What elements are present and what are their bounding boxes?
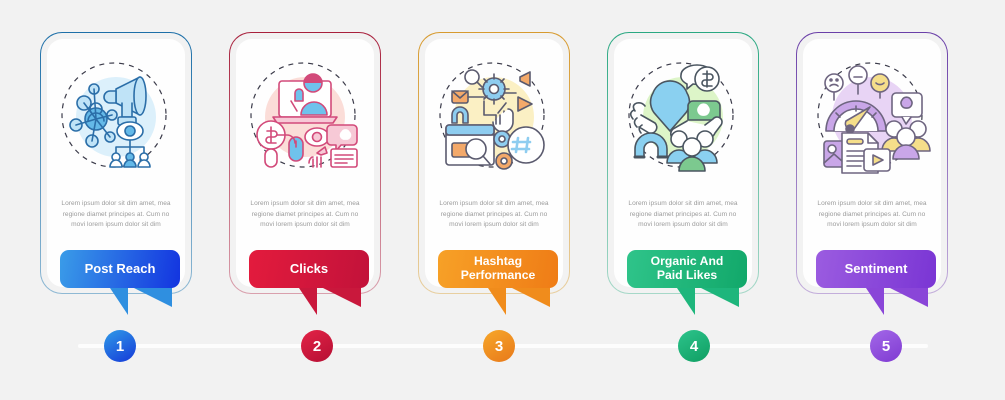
step-number-3[interactable]: 3: [483, 330, 515, 362]
laptop-click-mouse-icon: [236, 53, 374, 189]
infographic-stage: Lorem ipsum dolor sit dim amet, mea regi…: [0, 0, 1005, 400]
hashtag-search-gear-icon: [425, 53, 563, 189]
metric-label-4[interactable]: Organic AndPaid Likes: [627, 250, 747, 288]
megaphone-network-reach-icon: [47, 53, 185, 189]
heart-magnet-likes-icon: [614, 53, 752, 189]
label-bubble-wrap-3: HashtagPerformance: [438, 250, 630, 316]
metric-label-2[interactable]: Clicks: [249, 250, 369, 288]
metric-label-1[interactable]: Post Reach: [60, 250, 180, 288]
card-description: Lorem ipsum dolor sit dim amet, mea regi…: [57, 199, 175, 231]
label-bubble-wrap-1: Post Reach: [60, 250, 252, 316]
sentiment-gauge-icon: [803, 53, 941, 189]
label-bubble-wrap-5: Sentiment: [816, 250, 1005, 316]
card-description: Lorem ipsum dolor sit dim amet, mea regi…: [435, 199, 553, 231]
cards-row: Lorem ipsum dolor sit dim amet, mea regi…: [0, 0, 1005, 400]
step-number-1[interactable]: 1: [104, 330, 136, 362]
step-number-2[interactable]: 2: [301, 330, 333, 362]
label-bubble-wrap-2: Clicks: [249, 250, 441, 316]
card-description: Lorem ipsum dolor sit dim amet, mea regi…: [246, 199, 364, 231]
step-number-4[interactable]: 4: [678, 330, 710, 362]
step-number-5[interactable]: 5: [870, 330, 902, 362]
metric-label-3[interactable]: HashtagPerformance: [438, 250, 558, 288]
metric-label-5[interactable]: Sentiment: [816, 250, 936, 288]
label-bubble-wrap-4: Organic AndPaid Likes: [627, 250, 819, 316]
card-description: Lorem ipsum dolor sit dim amet, mea regi…: [624, 199, 742, 231]
card-description: Lorem ipsum dolor sit dim amet, mea regi…: [813, 199, 931, 231]
